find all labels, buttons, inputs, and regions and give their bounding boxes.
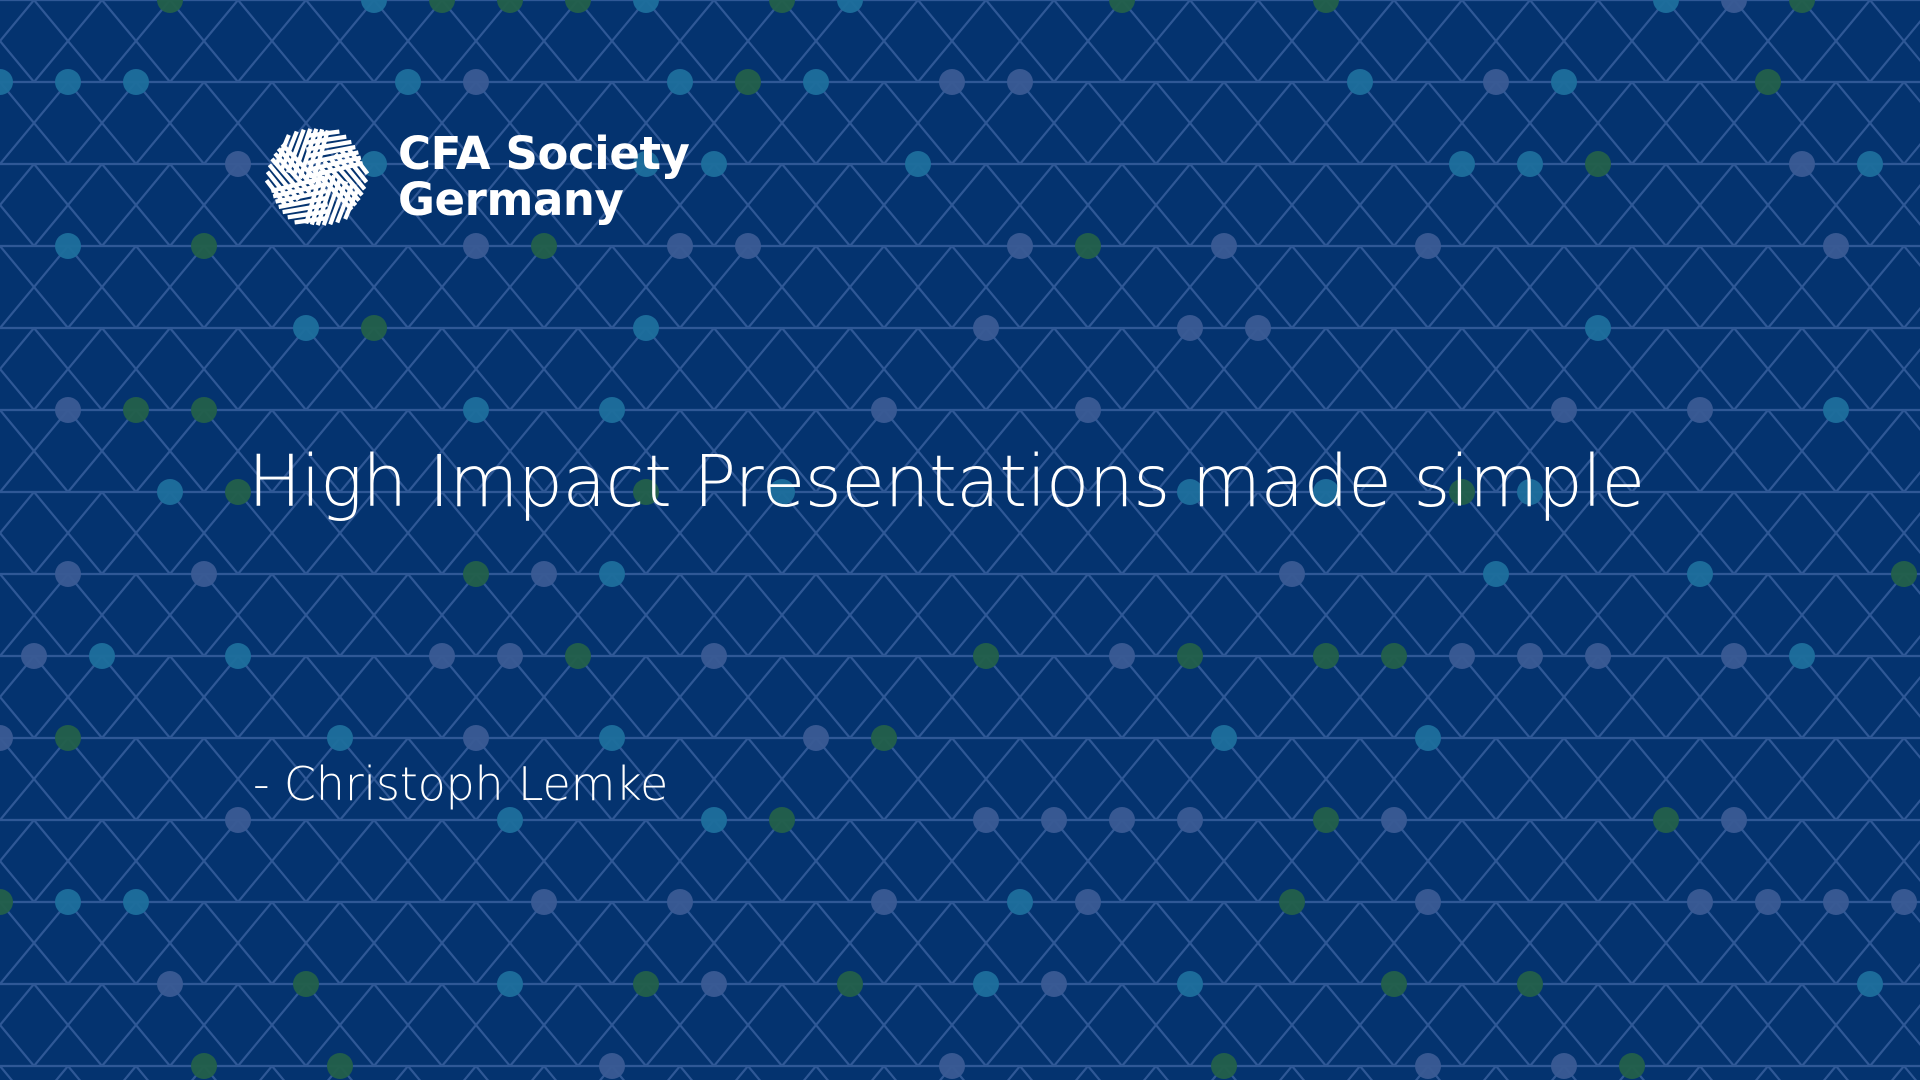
logo-wordmark-line-2: Germany [398,177,689,223]
slide-title: High Impact Presentations made simple [248,443,1808,521]
logo-wordmark: CFA Society Germany [398,131,689,223]
presentation-slide: CFA Society Germany High Impact Presenta… [0,0,1920,1080]
logo-wordmark-line-1: CFA Society [398,131,689,177]
cfa-society-germany-logo: CFA Society Germany [258,118,689,236]
slide-presenter-name: - Christoph Lemke [253,758,668,811]
cfa-pinwheel-logo-icon [258,118,376,236]
